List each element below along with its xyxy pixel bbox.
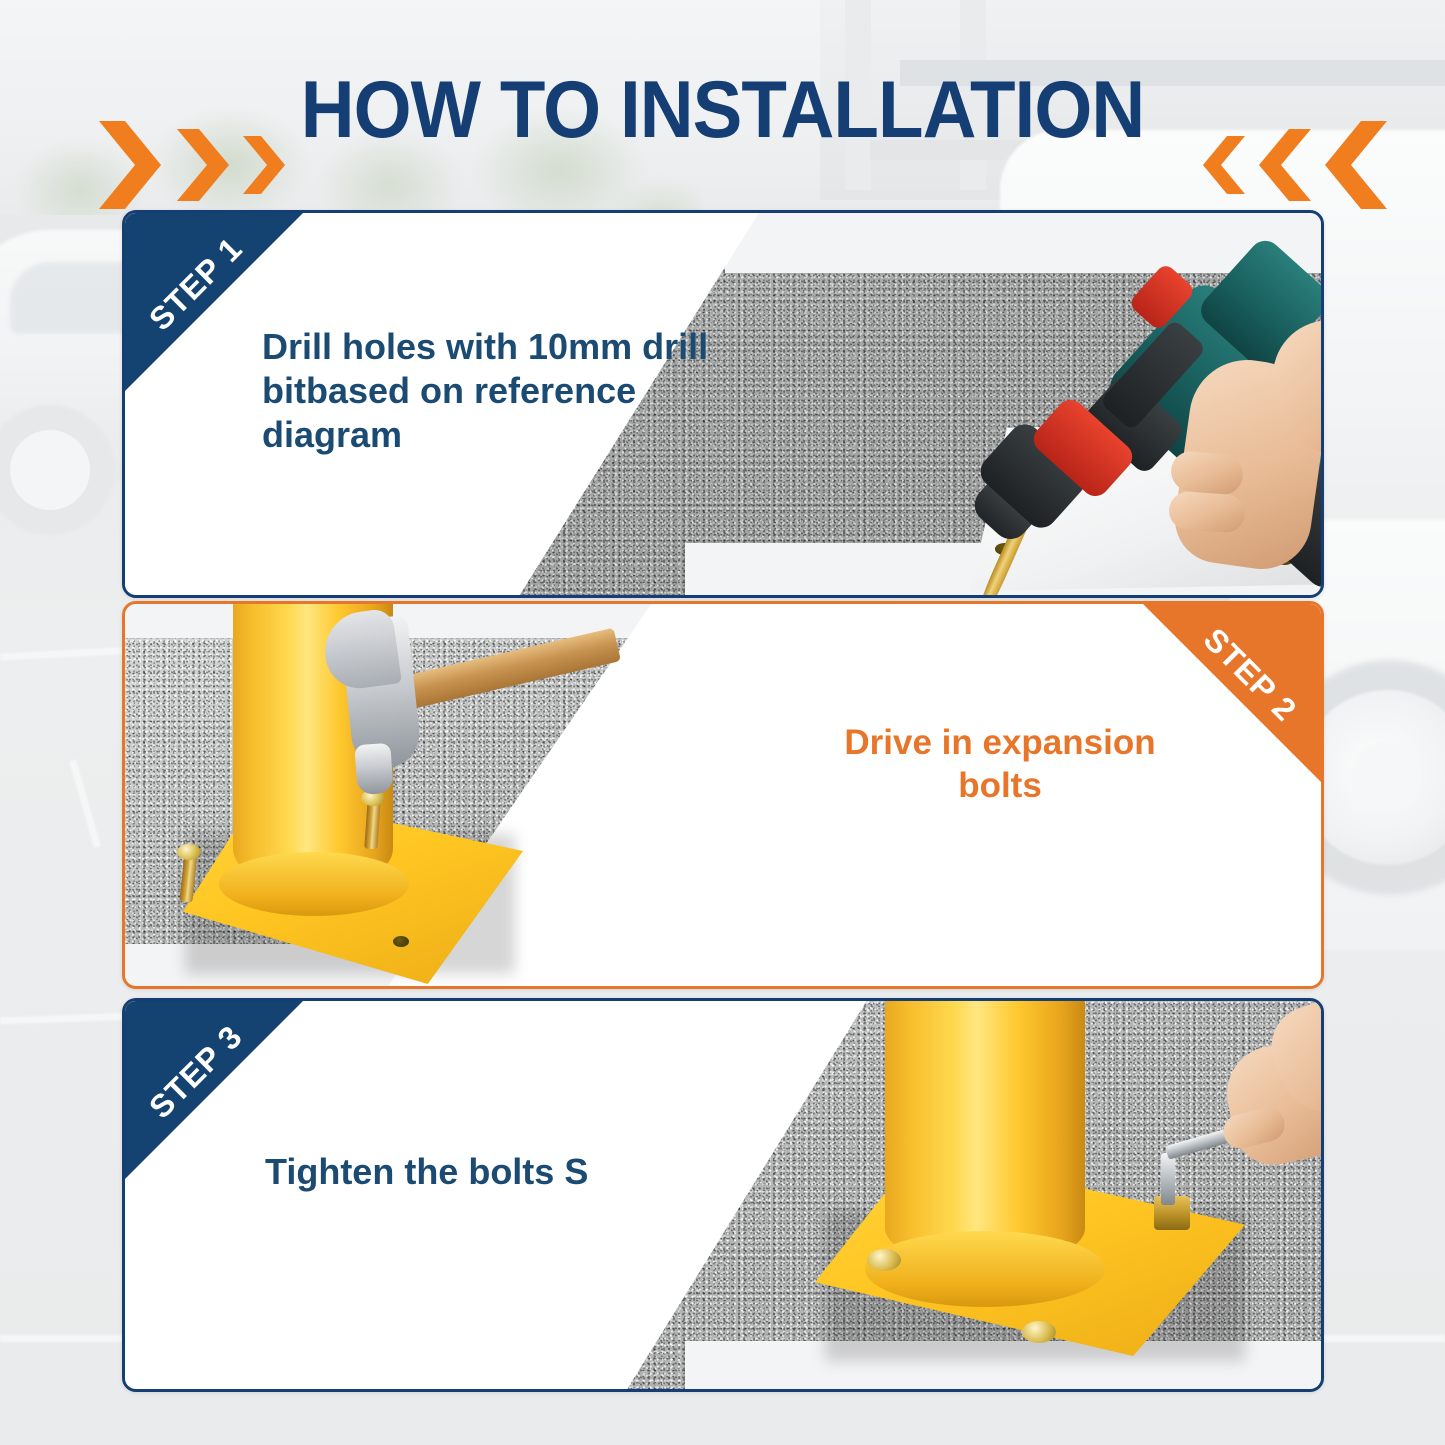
background-wheel-hub	[1352, 742, 1422, 812]
floor-highlight	[725, 213, 1324, 273]
finger	[1168, 490, 1246, 533]
step-2-badge: STEP 2	[1143, 604, 1321, 782]
tightened-bolt	[867, 1249, 901, 1271]
step-card-3[interactable]: STEP 3	[122, 998, 1324, 1392]
plate-hole	[393, 936, 409, 947]
background-wheel-rim	[10, 430, 90, 510]
expansion-bolt-head	[177, 844, 201, 860]
step-1-instruction: Drill holes with 10mm drill bitbased on …	[262, 325, 722, 457]
hex-key-short-arm	[1161, 1153, 1175, 1205]
step-3-badge: STEP 3	[125, 1001, 303, 1179]
bollard-collar	[219, 852, 409, 916]
step-3-instruction: Tighten the bolts S	[265, 1150, 785, 1194]
hammer-face	[354, 743, 393, 795]
yellow-bollard-post	[885, 998, 1085, 1267]
bollard-tube	[885, 998, 1085, 1267]
infographic-canvas: HOW TO INSTALLATION	[0, 0, 1445, 1445]
header: HOW TO INSTALLATION	[0, 55, 1445, 165]
step-1-badge: STEP 1	[125, 213, 303, 391]
tightened-bolt	[1022, 1321, 1056, 1343]
bollard-collar	[865, 1231, 1105, 1307]
page-title: HOW TO INSTALLATION	[58, 55, 1387, 165]
step-2-instruction: Drive in expansion bolts	[820, 722, 1180, 807]
